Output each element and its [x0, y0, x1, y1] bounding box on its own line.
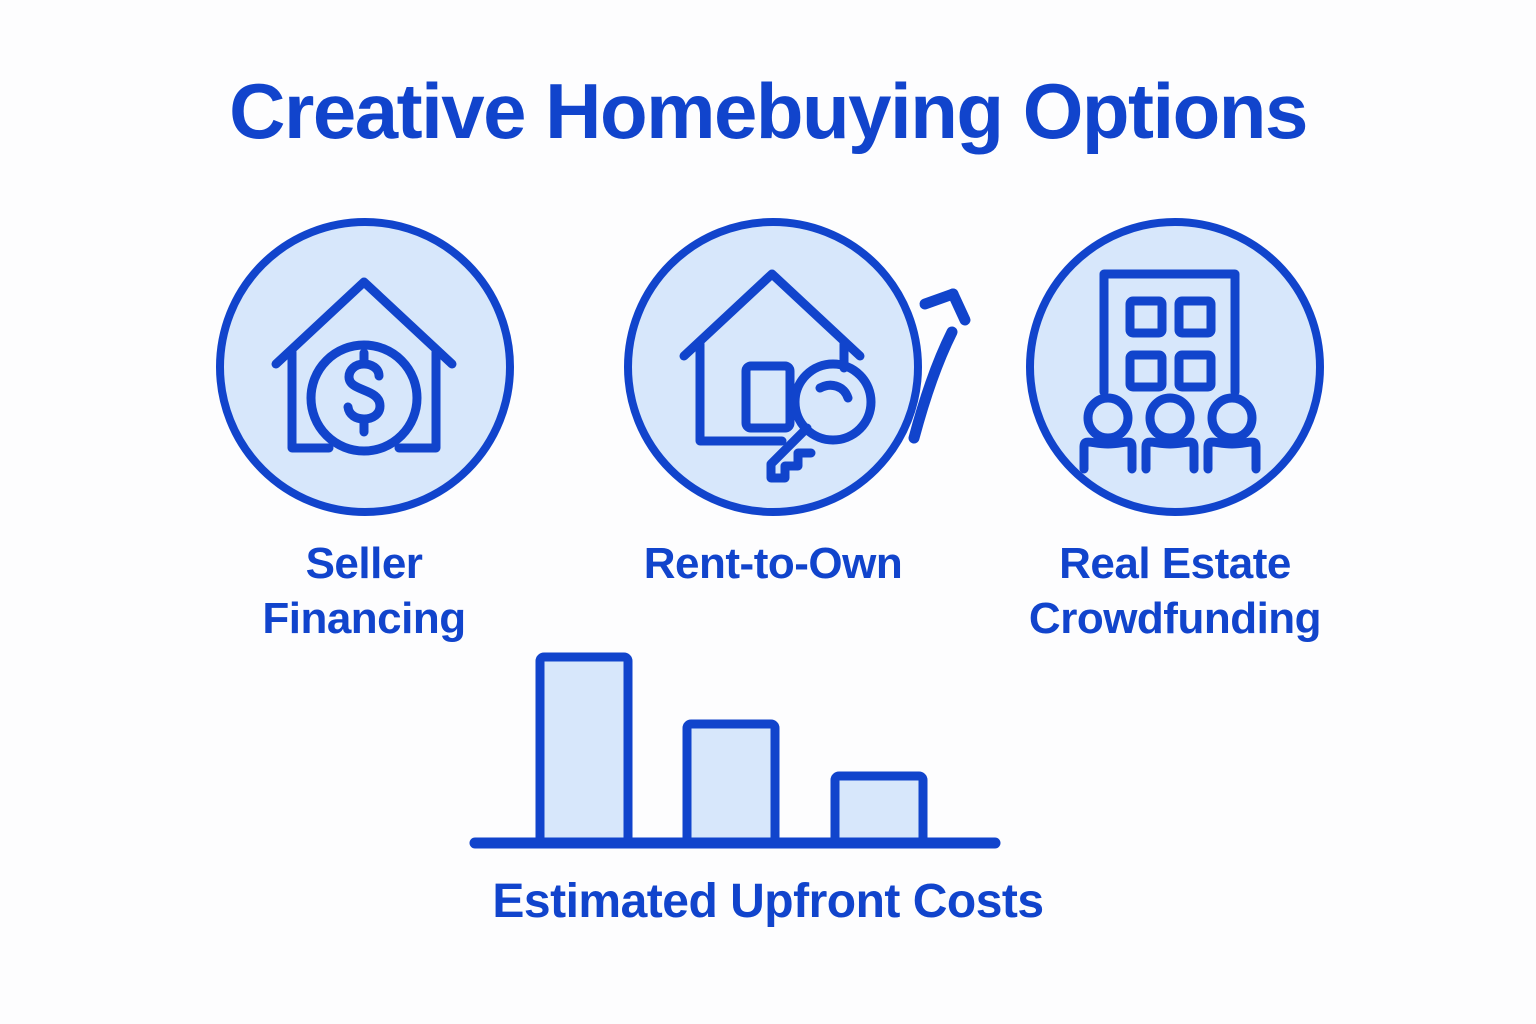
- infographic-canvas: Creative Homebuying Options: [0, 0, 1536, 1024]
- option-label-real-estate-crowdfunding: Real Estate Crowdfunding: [955, 536, 1395, 646]
- option-icon-row: [0, 216, 1536, 516]
- option-label-line-2: Crowdfunding: [955, 591, 1395, 646]
- chart-caption: Estimated Upfront Costs: [0, 874, 1536, 929]
- bar-chart-svg: [455, 645, 1015, 860]
- option-label-line-1: Rent-to-Own: [593, 536, 953, 591]
- option-label-seller-financing: Seller Financing: [184, 536, 544, 646]
- bar-1: [540, 657, 628, 843]
- option-label-line-1: Real Estate: [955, 536, 1395, 591]
- option-label-row: Seller Financing Rent-to-Own Real Estate…: [0, 536, 1536, 656]
- option-label-rent-to-own: Rent-to-Own: [593, 536, 953, 591]
- option-card-rent-to-own[interactable]: [622, 216, 922, 516]
- page-title: Creative Homebuying Options: [0, 72, 1536, 150]
- upfront-costs-bar-chart: [455, 645, 1015, 860]
- house-with-dollar-coin-icon: [214, 216, 514, 516]
- apartment-building-with-people-icon: [1024, 216, 1324, 516]
- house-with-key-and-rising-arrow-icon: [622, 216, 1002, 516]
- bar-3: [835, 776, 923, 843]
- option-label-line-2: Financing: [184, 591, 544, 646]
- bar-2: [687, 724, 775, 843]
- option-label-line-1: Seller: [184, 536, 544, 591]
- option-card-real-estate-crowdfunding[interactable]: [1024, 216, 1324, 516]
- option-card-seller-financing[interactable]: [214, 216, 514, 516]
